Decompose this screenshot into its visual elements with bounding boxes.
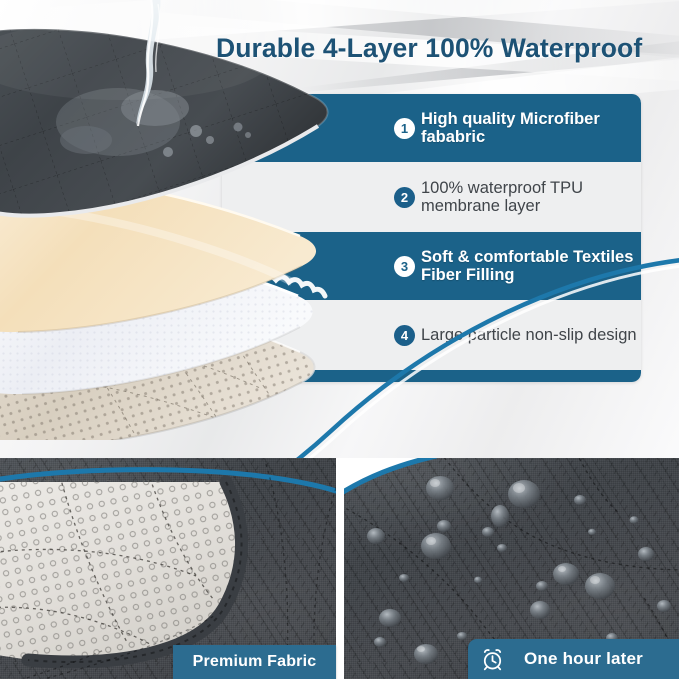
bottom-photo-row: Premium Fabric One hour later — [0, 458, 679, 679]
premium-fabric-badge[interactable]: Premium Fabric — [173, 645, 336, 679]
feature-label: Large particle non-slip design — [421, 326, 637, 344]
feature-label: Soft & comfortable Textiles Fiber Fillin… — [421, 248, 641, 285]
alarm-clock-icon — [480, 647, 505, 672]
one-hour-later-badge[interactable]: One hour later — [468, 639, 679, 679]
feature-label: High quality Microfiber fababric — [421, 110, 641, 147]
infographic-root: Durable 4-Layer 100% Waterproof 1 High q… — [0, 0, 679, 679]
feature-label: 100% waterproof TPU membrane layer — [421, 179, 641, 216]
layer-stack-illustration — [0, 0, 400, 440]
premium-fabric-label: Premium Fabric — [193, 653, 317, 671]
one-hour-later-label: One hour later — [524, 649, 643, 669]
photo-gap-divider — [336, 458, 344, 679]
